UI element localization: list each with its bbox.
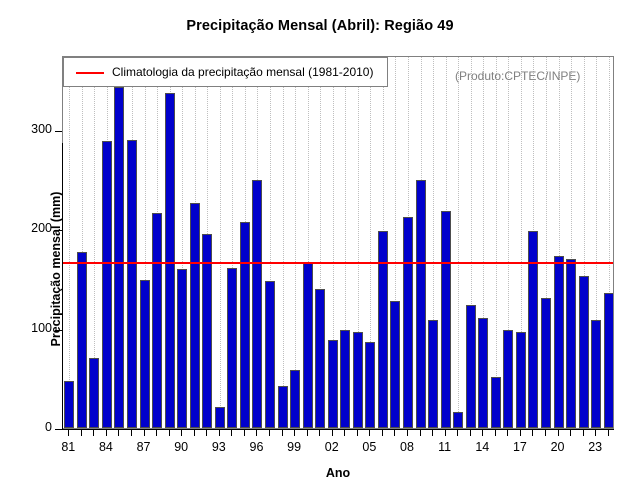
- x-tick-mark: [256, 429, 257, 436]
- x-tick-mark: [118, 429, 119, 436]
- source-note: (Produto:CPTEC/INPE): [455, 69, 580, 83]
- y-tick-mark: [55, 330, 62, 331]
- x-tick-label: 84: [86, 440, 126, 454]
- y-tick-label: 200: [31, 221, 52, 235]
- x-tick-mark: [156, 429, 157, 436]
- x-tick-mark: [445, 429, 446, 436]
- x-tick-mark: [595, 429, 596, 436]
- chart-title: Precipitação Mensal (Abril): Região 49: [0, 18, 640, 34]
- y-tick-label: 0: [45, 420, 52, 434]
- x-tick-label: 99: [274, 440, 314, 454]
- x-tick-mark: [282, 429, 283, 436]
- x-tick-mark: [194, 429, 195, 436]
- x-tick-label: 17: [500, 440, 540, 454]
- x-tick-mark: [407, 429, 408, 436]
- precipitation-bar-chart: Precipitação Mensal (Abril): Região 49 P…: [0, 0, 640, 500]
- x-tick-label: 05: [349, 440, 389, 454]
- x-tick-mark: [244, 429, 245, 436]
- x-tick-mark: [532, 429, 533, 436]
- x-tick-mark: [357, 429, 358, 436]
- x-tick-mark: [545, 429, 546, 436]
- x-tick-mark: [269, 429, 270, 436]
- x-tick-mark: [144, 429, 145, 436]
- x-tick-mark: [420, 429, 421, 436]
- x-tick-mark: [470, 429, 471, 436]
- x-tick-mark: [294, 429, 295, 436]
- x-tick-mark: [169, 429, 170, 436]
- x-tick-label: 87: [124, 440, 164, 454]
- x-tick-label: 14: [462, 440, 502, 454]
- x-tick-mark: [457, 429, 458, 436]
- x-tick-mark: [608, 429, 609, 436]
- x-axis-line: [62, 429, 614, 430]
- x-tick-mark: [583, 429, 584, 436]
- x-tick-mark: [394, 429, 395, 436]
- x-tick-mark: [432, 429, 433, 436]
- x-tick-label: 08: [387, 440, 427, 454]
- x-tick-mark: [319, 429, 320, 436]
- y-tick-mark: [55, 131, 62, 132]
- x-tick-mark: [369, 429, 370, 436]
- y-tick-mark: [55, 429, 62, 430]
- y-axis-line: [62, 143, 63, 429]
- x-tick-mark: [68, 429, 69, 436]
- x-tick-mark: [482, 429, 483, 436]
- x-tick-label: 20: [538, 440, 578, 454]
- y-tick-label: 100: [31, 321, 52, 335]
- x-tick-mark: [219, 429, 220, 436]
- x-tick-mark: [332, 429, 333, 436]
- x-axis-title: Ano: [62, 466, 614, 480]
- y-axis-title: Precipitação mensal (mm): [49, 109, 63, 429]
- x-tick-mark: [106, 429, 107, 436]
- x-tick-mark: [570, 429, 571, 436]
- climatology-line-layer: [63, 57, 613, 428]
- x-tick-mark: [520, 429, 521, 436]
- legend: Climatologia da precipitação mensal (198…: [63, 57, 388, 87]
- x-tick-label: 93: [199, 440, 239, 454]
- x-tick-mark: [231, 429, 232, 436]
- legend-label: Climatologia da precipitação mensal (198…: [112, 65, 373, 79]
- x-tick-mark: [131, 429, 132, 436]
- x-tick-mark: [181, 429, 182, 436]
- y-tick-mark: [55, 230, 62, 231]
- x-tick-mark: [344, 429, 345, 436]
- x-tick-label: 11: [425, 440, 465, 454]
- x-tick-mark: [307, 429, 308, 436]
- x-tick-mark: [382, 429, 383, 436]
- x-tick-mark: [507, 429, 508, 436]
- x-tick-label: 96: [236, 440, 276, 454]
- legend-line-swatch: [76, 72, 104, 74]
- x-tick-label: 23: [575, 440, 615, 454]
- y-tick-label: 300: [31, 122, 52, 136]
- x-tick-label: 81: [48, 440, 88, 454]
- x-tick-label: 90: [161, 440, 201, 454]
- plot-area: [62, 56, 614, 429]
- x-tick-mark: [206, 429, 207, 436]
- x-tick-mark: [93, 429, 94, 436]
- x-tick-mark: [81, 429, 82, 436]
- climatology-reference-line: [63, 262, 613, 264]
- x-tick-label: 02: [312, 440, 352, 454]
- x-tick-mark: [495, 429, 496, 436]
- x-tick-mark: [558, 429, 559, 436]
